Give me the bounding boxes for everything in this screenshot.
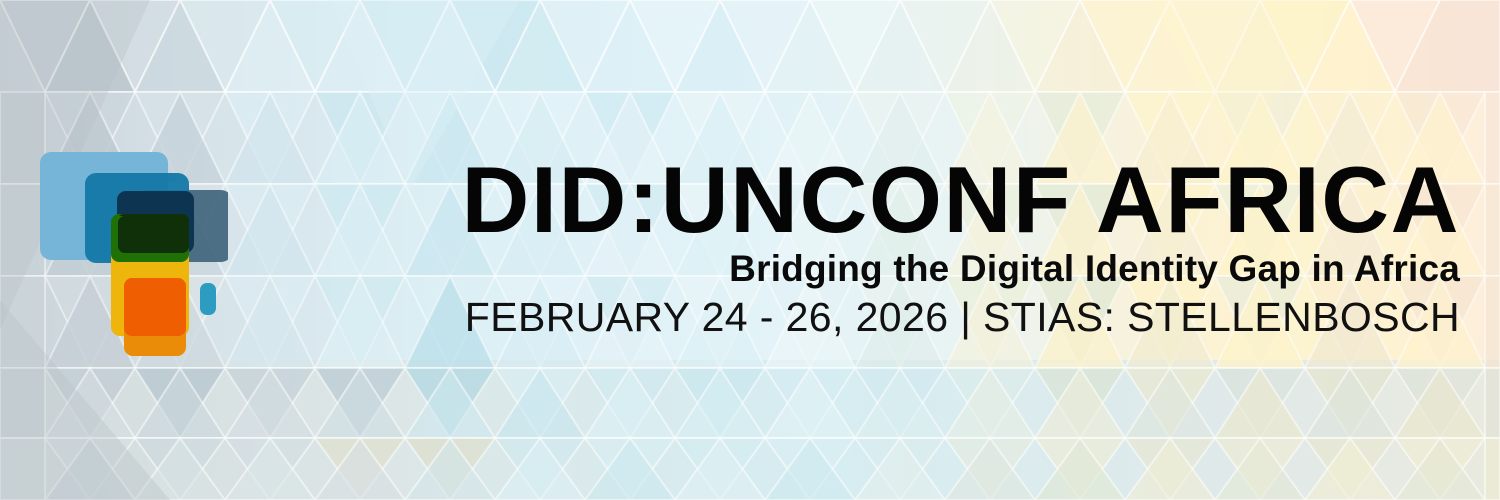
event-title: DID:UNCONF AFRICA <box>0 153 1460 247</box>
event-tagline: Bridging the Digital Identity Gap in Afr… <box>0 249 1460 289</box>
event-banner: DID:UNCONF AFRICA Bridging the Digital I… <box>0 0 1500 500</box>
event-date-venue: FEBRUARY 24 - 26, 2026 | STIAS: STELLENB… <box>0 294 1460 340</box>
